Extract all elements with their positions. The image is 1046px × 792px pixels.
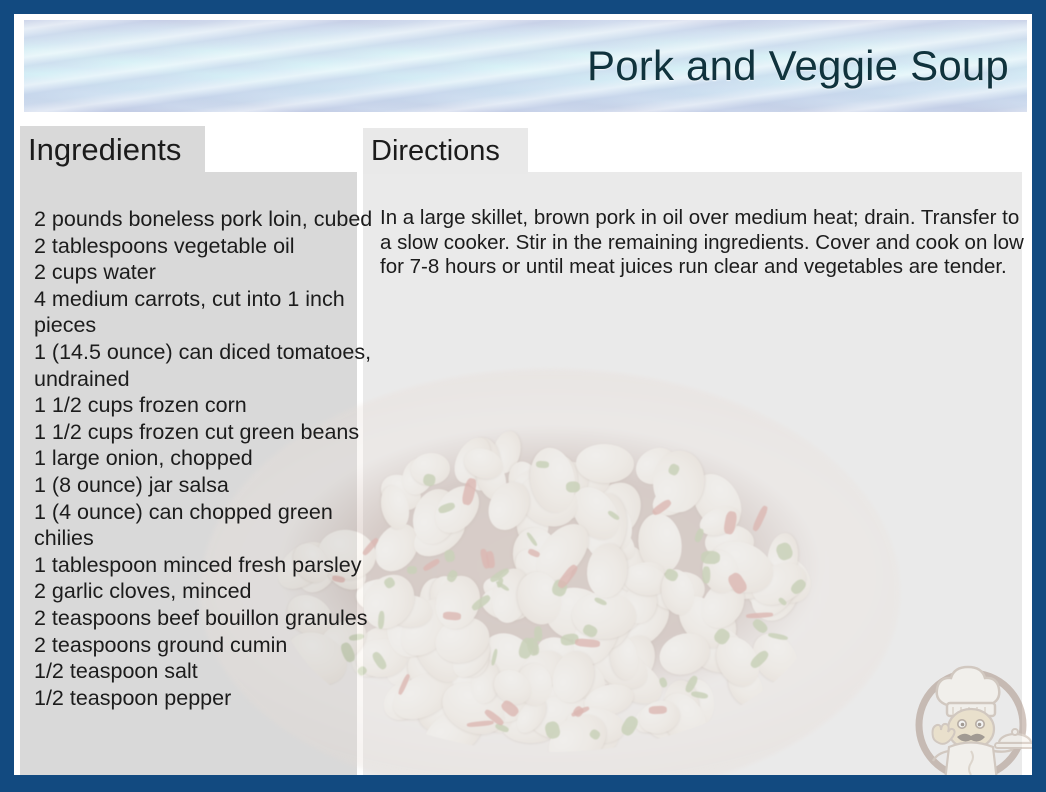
ingredient-item: 4 medium carrots, cut into 1 inch pieces (34, 286, 374, 339)
ingredient-item: 1 1/2 cups frozen corn (34, 392, 374, 419)
title-banner: Pork and Veggie Soup (24, 20, 1027, 112)
ingredient-item: 1 (14.5 ounce) can diced tomatoes, undra… (34, 339, 374, 392)
tab-ingredients[interactable]: Ingredients (20, 126, 205, 174)
chef-logo-icon (907, 659, 1035, 787)
ingredient-item: 1 1/2 cups frozen cut green beans (34, 419, 374, 446)
ingredient-item: 2 cups water (34, 259, 374, 286)
directions-body: In a large skillet, brown pork in oil ov… (380, 206, 1030, 280)
ingredient-item: 2 teaspoons ground cumin (34, 632, 374, 659)
ingredient-item: 1 tablespoon minced fresh parsley (34, 552, 374, 579)
recipe-title: Pork and Veggie Soup (587, 42, 1009, 90)
ingredient-item: 2 tablespoons vegetable oil (34, 233, 374, 260)
ingredient-item: 1/2 teaspoon salt (34, 658, 374, 685)
ingredient-item: 1 (8 ounce) jar salsa (34, 472, 374, 499)
chef-logo (907, 659, 1035, 787)
recipe-card: Pork and Veggie Soup Ingredients Directi… (0, 0, 1046, 792)
tab-directions[interactable]: Directions (363, 128, 528, 174)
ingredient-item: 1 (4 ounce) can chopped green chilies (34, 499, 374, 552)
ingredient-item: 2 teaspoons beef bouillon granules (34, 605, 374, 632)
ingredients-heading: Ingredients (28, 132, 181, 168)
ingredient-item: 1 large onion, chopped (34, 445, 374, 472)
ingredient-item: 1/2 teaspoon pepper (34, 685, 374, 712)
ingredient-item: 2 garlic cloves, minced (34, 578, 374, 605)
directions-heading: Directions (371, 135, 500, 168)
ingredients-list: 2 pounds boneless pork loin, cubed2 tabl… (34, 206, 374, 711)
ingredient-item: 2 pounds boneless pork loin, cubed (34, 206, 374, 233)
